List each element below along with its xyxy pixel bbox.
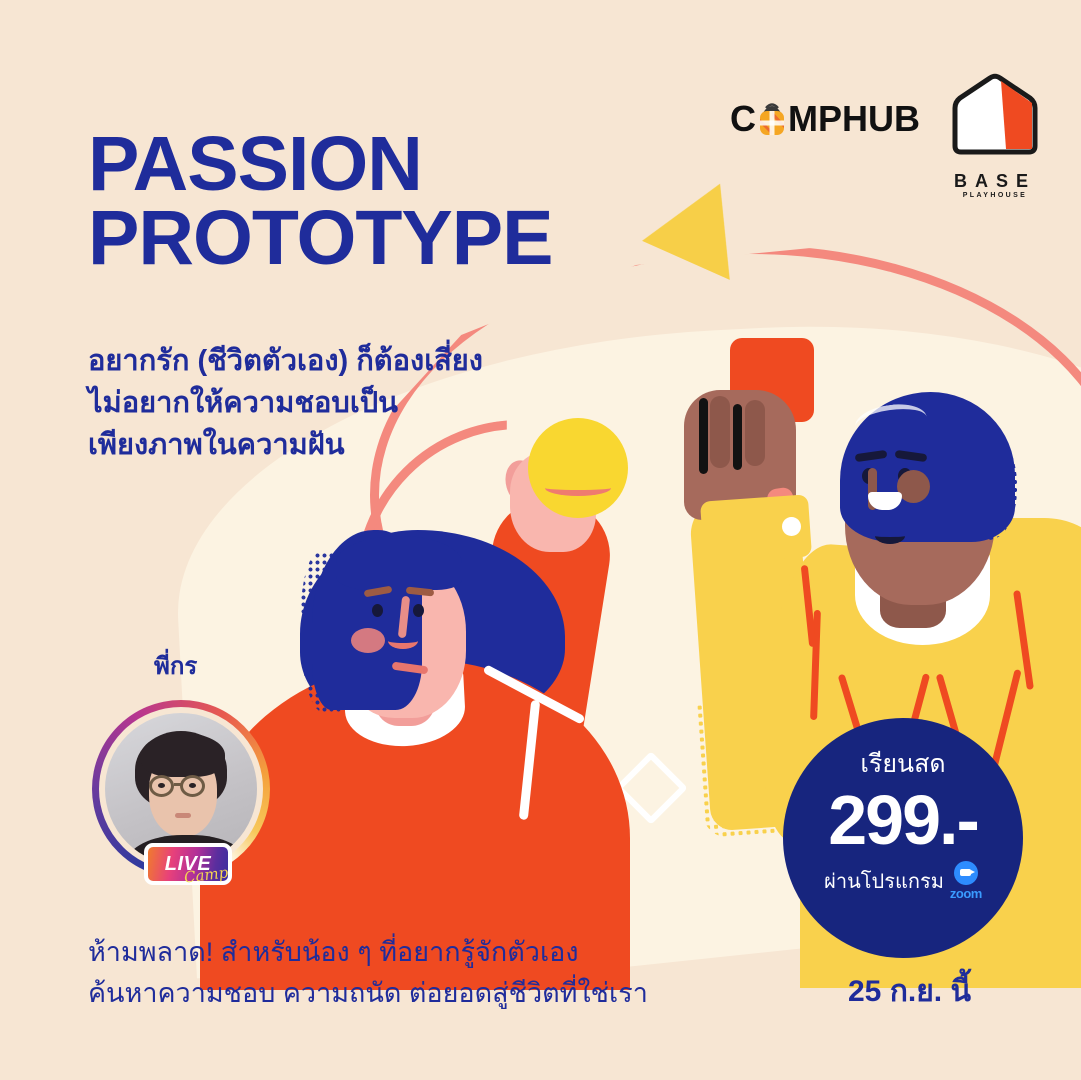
base-playhouse-logo[interactable]: BASE PLAYHOUSE: [940, 72, 1050, 199]
man-hair-texture: [955, 430, 1017, 540]
subtitle-text: อยากรัก (ชีวิตตัวเอง) ก็ต้องเสี่ยง ไม่อย…: [88, 340, 483, 466]
man-mouth-shape: [875, 528, 905, 544]
house-pentagon-icon: [940, 147, 1050, 164]
base-logo-word: BASE: [940, 171, 1050, 192]
zoom-camera-icon: [954, 861, 978, 885]
price-top-label: เรียนสด: [783, 744, 1023, 784]
woman-cheek-shape: [351, 628, 385, 653]
price-badge[interactable]: เรียนสด 299.- ผ่านโปรแกรม zoom: [783, 718, 1023, 958]
zoom-logo: zoom: [950, 861, 982, 901]
woman-eye-left: [372, 604, 383, 617]
camphub-logo-text-1: C: [730, 98, 756, 140]
camphub-logo-text-2: MPHUB: [788, 98, 920, 140]
woman-eye-right: [413, 604, 424, 617]
yellow-ball-shape: [528, 418, 628, 518]
avatar-hair-front: [141, 733, 225, 777]
speaker-name: พี่กร: [154, 646, 197, 685]
man-finger-shade-1: [710, 396, 730, 468]
camphub-logo[interactable]: C MPHUB: [730, 98, 920, 140]
avatar-glasses-bridge: [174, 783, 182, 786]
camp-badge-label: Camp: [183, 863, 229, 886]
yellow-ball-shadow: [545, 480, 611, 496]
woman-mouth-shape: [388, 633, 418, 649]
avatar-eye-right: [189, 783, 196, 788]
man-cuff-button: [782, 517, 801, 536]
event-date: 25 ก.ย. นี้: [848, 968, 971, 1015]
price-platform-row: ผ่านโปรแกรม zoom: [783, 861, 1023, 901]
avatar-eye-left: [158, 783, 165, 788]
man-finger-line-2: [733, 404, 742, 470]
zoom-wordmark: zoom: [950, 886, 982, 901]
man-finger-shade-2: [745, 400, 765, 466]
man-cheek-shape: [897, 470, 930, 503]
promo-poster: C MPHUB BASE PLAYHOUSE PASSION PROTOTYPE: [0, 0, 1081, 1080]
page-title: PASSION PROTOTYPE: [88, 128, 553, 276]
footer-tagline: ห้ามพลาด! สำหรับน้อง ๆ ที่อยากรู้จักตัวเ…: [88, 932, 648, 1013]
backpack-icon: [757, 102, 787, 136]
woman-hair-texture: [300, 552, 342, 712]
price-bottom-label: ผ่านโปรแกรม: [824, 865, 944, 897]
woman-hair-fringe-shape: [336, 536, 462, 590]
man-finger-line-1: [699, 398, 708, 474]
avatar-mouth: [175, 813, 191, 818]
base-logo-subtitle: PLAYHOUSE: [940, 192, 1050, 199]
price-amount: 299.-: [783, 786, 1023, 855]
live-camp-badge[interactable]: LIVE Camp: [144, 843, 232, 885]
